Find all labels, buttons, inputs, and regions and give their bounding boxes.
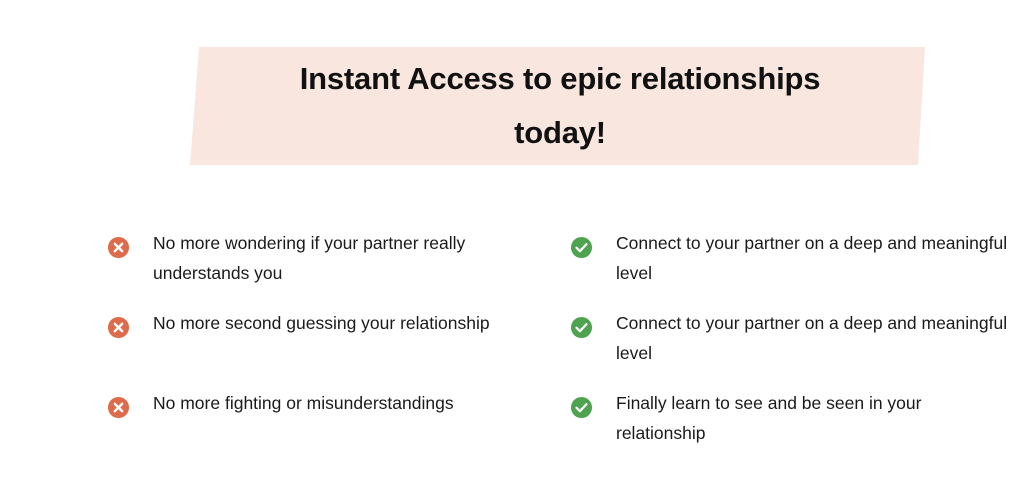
- list-item: No more second guessing your relationshi…: [107, 308, 570, 388]
- circle-check-icon: [570, 316, 593, 339]
- list-item: Connect to your partner on a deep and me…: [570, 228, 1033, 308]
- list-item-label: No more fighting or misunderstandings: [153, 388, 454, 418]
- pain-points-column: No more wondering if your partner really…: [0, 228, 570, 468]
- circle-cross-icon: [107, 236, 130, 259]
- benefits-columns: No more wondering if your partner really…: [0, 228, 1034, 468]
- headline-banner: Instant Access to epic relationships tod…: [0, 47, 1034, 165]
- list-item: No more fighting or misunderstandings: [107, 388, 570, 468]
- circle-check-icon: [570, 236, 593, 259]
- circle-cross-icon: [107, 396, 130, 419]
- list-item-label: Connect to your partner on a deep and me…: [616, 308, 1011, 368]
- list-item-label: Connect to your partner on a deep and me…: [616, 228, 1011, 288]
- list-item: Finally learn to see and be seen in your…: [570, 388, 1033, 468]
- benefits-column: Connect to your partner on a deep and me…: [570, 228, 1033, 468]
- circle-cross-icon: [107, 316, 130, 339]
- list-item-label: No more wondering if your partner really…: [153, 228, 548, 288]
- list-item: No more wondering if your partner really…: [107, 228, 570, 308]
- circle-check-icon: [570, 396, 593, 419]
- list-item-label: Finally learn to see and be seen in your…: [616, 388, 1011, 448]
- page-title: Instant Access to epic relationships tod…: [200, 47, 920, 165]
- list-item-label: No more second guessing your relationshi…: [153, 308, 490, 338]
- list-item: Connect to your partner on a deep and me…: [570, 308, 1033, 388]
